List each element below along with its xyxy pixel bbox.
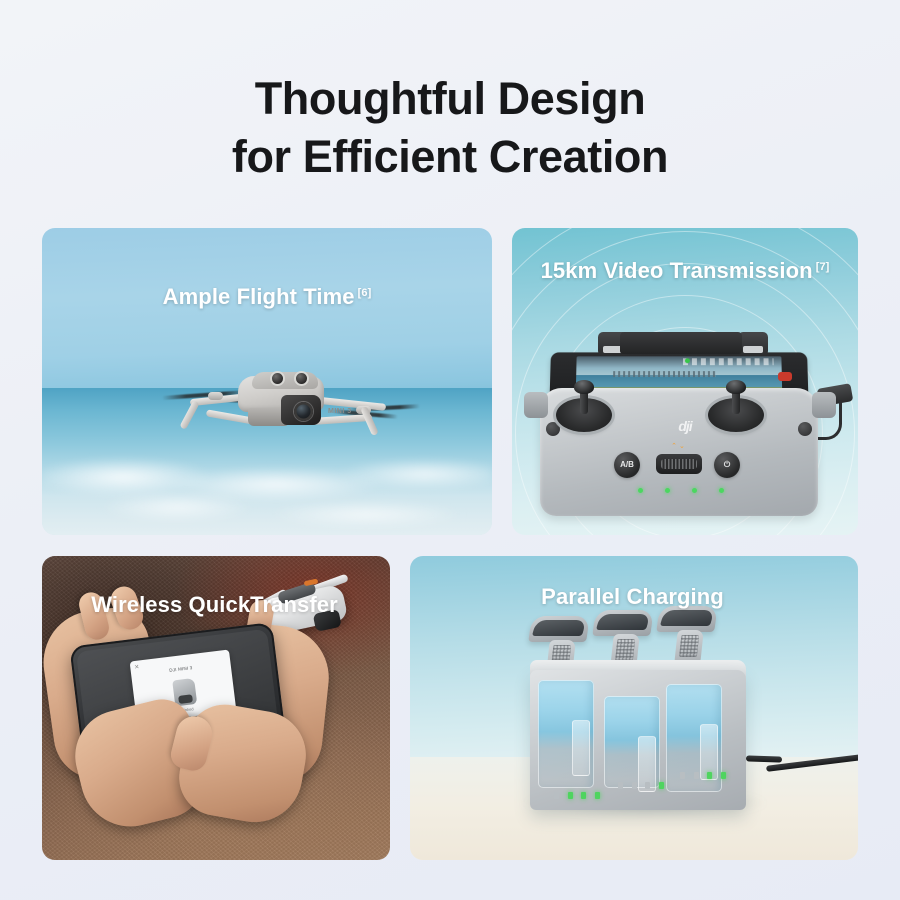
card-footnote: [6] — [358, 287, 372, 299]
handle-dark-2 — [596, 614, 650, 630]
feature-card-wireless-quicktransfer[interactable]: ✕ DJI MINI 3 Linked Open Album Wireless … — [42, 556, 390, 860]
charging-hub — [508, 614, 776, 822]
ocean-foam-back — [42, 489, 492, 535]
flight-mode-button[interactable]: A/B — [614, 452, 640, 478]
joystick-left[interactable] — [556, 380, 612, 436]
phone-clamp-right — [738, 332, 768, 356]
bay3-led-1 — [680, 772, 685, 779]
drone-sensor-left-icon — [272, 373, 283, 384]
charge-leds-bay-1 — [554, 792, 600, 799]
shoulder-button-right[interactable] — [812, 392, 836, 418]
bay2-led-2 — [632, 782, 637, 789]
page-title-line-2: for Efficient Creation — [0, 128, 900, 186]
bay1-led-1 — [554, 792, 559, 799]
controller-accent-stripe — [778, 372, 792, 381]
handle-dark-3 — [660, 610, 714, 626]
card-title-text: Wireless QuickTransfer — [91, 592, 338, 617]
led-1 — [638, 488, 643, 493]
handle-vent-3 — [674, 630, 704, 664]
liveview-osd-bar — [683, 358, 773, 365]
page-title: Thoughtful Design for Efficient Creation — [0, 70, 900, 185]
handle-dark-1 — [532, 620, 586, 636]
liveview-skyline — [613, 371, 716, 378]
gimbal-dial-icon: ⌃⌄ — [660, 442, 698, 450]
battery-2 — [604, 696, 660, 788]
drone-sensor-right-icon — [296, 373, 307, 384]
remote-controller: dji A/B ⌃⌄ ⏻ — [520, 326, 850, 526]
card-title-text: Parallel Charging — [541, 584, 724, 609]
led-2 — [665, 488, 670, 493]
feature-card-ample-flight-time[interactable]: MINI 3 Ample Flight Time[6] — [42, 228, 492, 535]
joystick-left-knob — [574, 380, 594, 394]
led-3 — [692, 488, 697, 493]
shoulder-button-left[interactable] — [524, 392, 548, 418]
drone-top-shell — [252, 372, 318, 389]
charge-leds-bay-2 — [618, 782, 664, 789]
card-footnote: [7] — [816, 261, 830, 273]
page-title-line-1: Thoughtful Design — [255, 73, 646, 124]
battery-led-indicators — [638, 488, 724, 493]
card-title-text: 15km Video Transmission — [541, 258, 813, 283]
phone-holder-bar — [620, 332, 742, 354]
feature-card-parallel-charging[interactable]: Parallel Charging — [410, 556, 858, 860]
bay3-led-3 — [707, 772, 712, 779]
bay3-led-4 — [721, 772, 726, 779]
drone-illustration: MINI 3 — [160, 360, 410, 464]
dialog-title: DJI MINI 3 — [131, 660, 231, 677]
landing-leg-left — [179, 400, 199, 430]
page-root: Thoughtful Design for Efficient Creation — [0, 0, 900, 900]
card-title-parallel-charging: Parallel Charging — [410, 584, 858, 610]
side-button-right-icon[interactable] — [798, 422, 812, 436]
battery-handle-2 — [594, 610, 652, 666]
joystick-right-knob — [726, 380, 746, 394]
battery-handle-3 — [658, 606, 716, 662]
bay1-led-4 — [595, 792, 600, 799]
bay2-led-3 — [645, 782, 650, 789]
gimbal-dial[interactable] — [656, 454, 702, 474]
camera-lens-icon — [294, 402, 313, 421]
led-4 — [719, 488, 724, 493]
card-title-text: Ample Flight Time — [163, 284, 355, 309]
joystick-right[interactable] — [708, 380, 764, 436]
handle-grip-2 — [592, 610, 654, 636]
charge-leds-bay-3 — [680, 772, 726, 779]
bay2-led-1 — [618, 782, 623, 789]
bay3-led-2 — [694, 772, 699, 779]
dji-logo-icon: dji — [678, 418, 691, 434]
motor-hub-left — [208, 392, 223, 400]
power-button[interactable]: ⏻ — [714, 452, 740, 478]
handle-grip-1 — [528, 616, 590, 642]
bay1-led-3 — [581, 792, 586, 799]
card-title-wireless-quicktransfer: Wireless QuickTransfer — [42, 592, 390, 618]
power-cable-near — [746, 755, 782, 762]
drone-model-marking: MINI 3 — [328, 408, 352, 415]
card-title-ample-flight-time: Ample Flight Time[6] — [42, 284, 492, 310]
battery-1 — [538, 680, 594, 788]
bay2-led-4 — [659, 782, 664, 789]
close-icon[interactable]: ✕ — [134, 664, 140, 672]
bay1-led-2 — [568, 792, 573, 799]
battery-window-1 — [572, 720, 590, 776]
feature-card-video-transmission[interactable]: dji A/B ⌃⌄ ⏻ 15km Video Transmission[7] — [512, 228, 858, 535]
card-title-video-transmission: 15km Video Transmission[7] — [512, 258, 858, 284]
